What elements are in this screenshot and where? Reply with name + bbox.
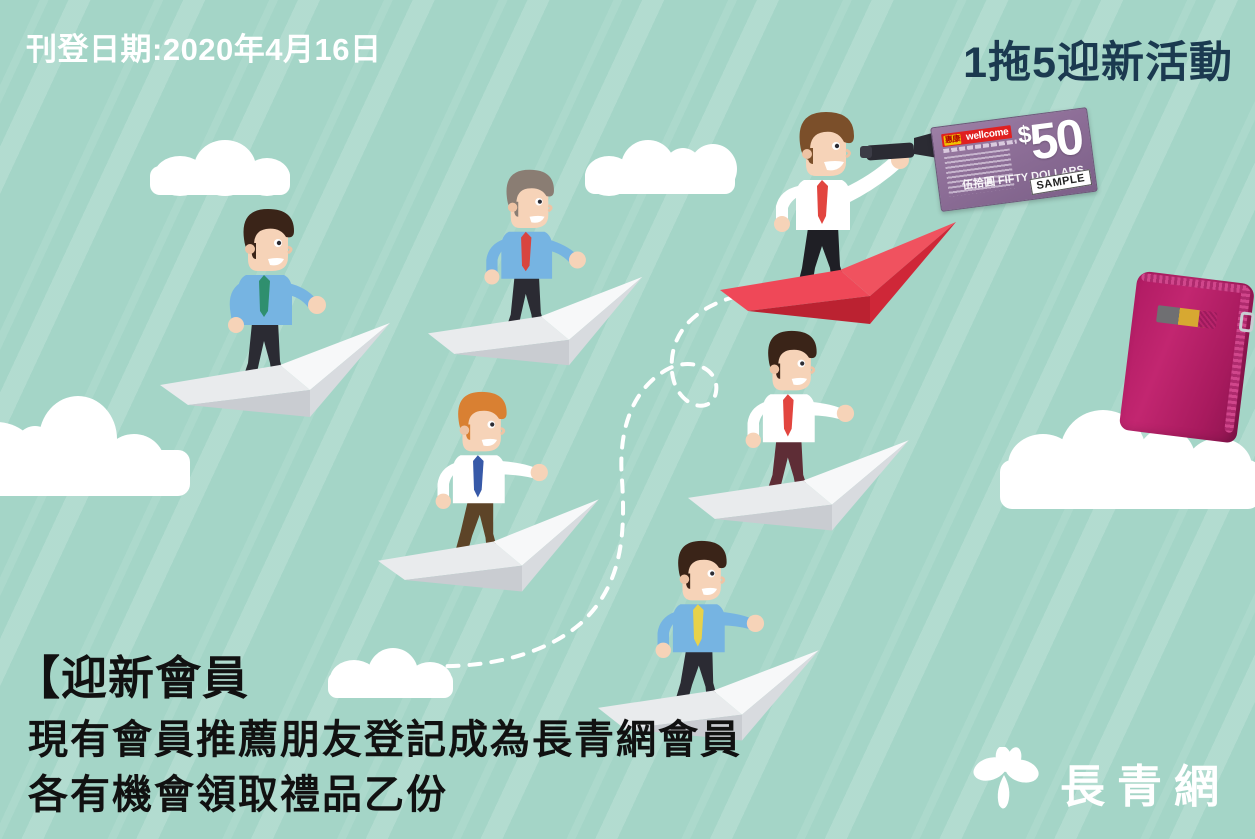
- promo-headline: 【迎新會員: [14, 655, 249, 701]
- cloud-icon-bottom-left: [328, 648, 453, 698]
- brand-name: 長青網: [1060, 750, 1231, 815]
- case-zipper-pull: [1239, 311, 1255, 333]
- wellcome-logo-cjk: 惠康: [943, 133, 962, 145]
- publish-date: 刊登日期:2020年4月16日: [26, 24, 382, 69]
- paper-plane-flyer-4: [688, 327, 938, 533]
- paper-plane-flyer-2: [428, 166, 672, 368]
- page-title: 1拖5迎新活動: [963, 28, 1233, 90]
- coupon-amount: $50: [1016, 111, 1085, 169]
- telescope-icon: [860, 132, 938, 161]
- promo-poster: 惠康 wellcome $50 伍拾圓 FIFTY DOLLARS SAMPLE…: [0, 0, 1255, 839]
- paper-plane-flyer-5: [598, 537, 848, 743]
- gift-tablet-case: [1119, 270, 1255, 443]
- flower-leaf-icon: [968, 747, 1044, 817]
- brand-lock-up: 長青網: [968, 747, 1231, 817]
- paper-plane-flyer-3: [378, 388, 628, 594]
- promo-line-1: 現有會員推薦朋友登記成為長青網會員: [28, 720, 742, 760]
- promo-line-2: 各有機會領取禮品乙份: [28, 775, 448, 815]
- cloud-icon-top-left: [150, 140, 290, 195]
